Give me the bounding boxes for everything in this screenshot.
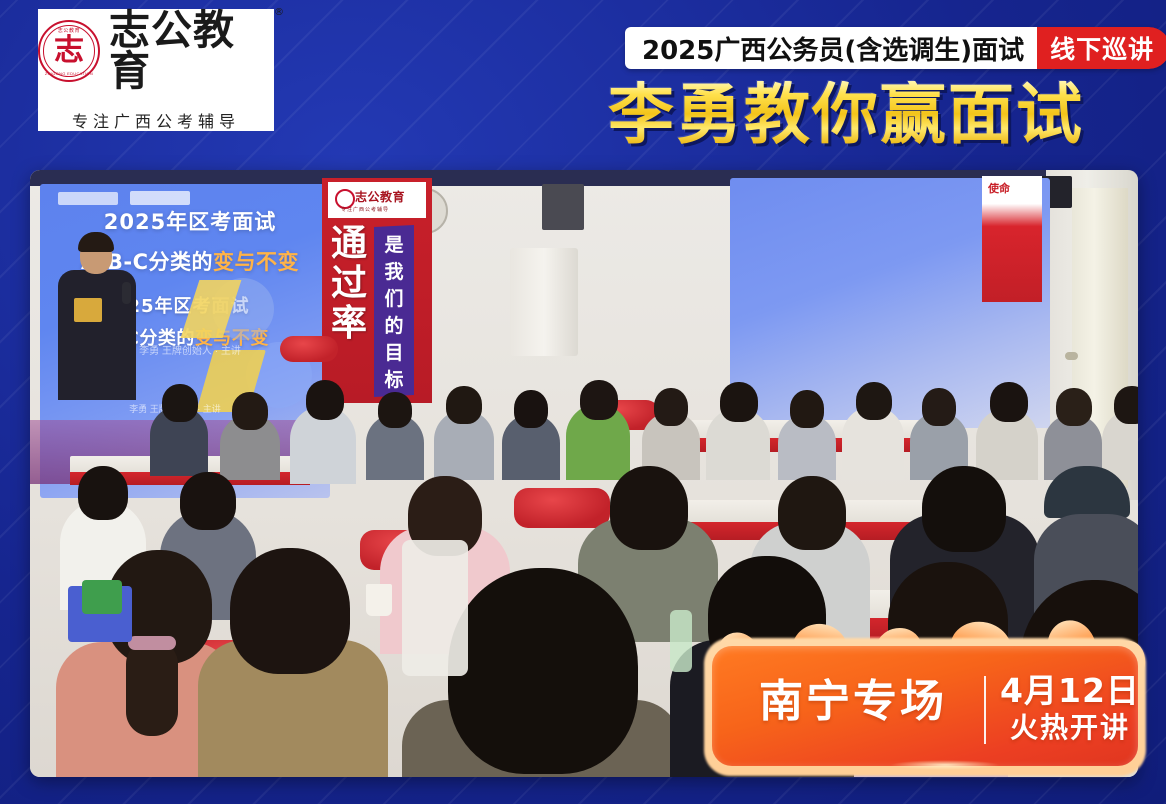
screen-right-line2-highlight: 变与不变: [213, 250, 299, 274]
audience-hair-tie: [128, 636, 176, 650]
screen-right-line1: 2025年区考面试: [30, 206, 350, 236]
t-shirt-print-accent: [82, 580, 122, 614]
brand-name: 志公教育 ®: [109, 10, 274, 92]
audience-person: [922, 466, 1006, 552]
chair: [514, 488, 610, 528]
flame-shine: [890, 760, 1000, 770]
event-title: 2025广西公务员(含选调生)面试: [642, 30, 1024, 67]
registered-mark: ®: [274, 8, 285, 18]
rollup-brand-name: 志公教育: [355, 188, 405, 205]
audience-person: [232, 392, 268, 430]
audience-person: [1114, 386, 1138, 424]
screen-left-logo-a: [58, 192, 118, 205]
chair: [280, 336, 338, 362]
audience-person: [180, 472, 236, 530]
audience-person: [378, 392, 412, 428]
brand-slogan: 专注广西公考辅导: [72, 108, 240, 132]
photo-air-conditioner: [510, 248, 578, 356]
title-pill: 2025广西公务员(含选调生)面试 线下巡讲: [625, 27, 1166, 69]
audience-person: [162, 384, 198, 422]
event-tag: 线下巡讲: [1050, 30, 1154, 66]
audience-person: [720, 382, 758, 422]
audience-person: [856, 382, 892, 420]
audience-person: [778, 476, 846, 550]
water-bottle: [670, 610, 692, 672]
rollup-purple-text: 是我们的目标: [379, 232, 409, 394]
presenter-shirt-logo: [74, 298, 102, 322]
audience-person-front: [448, 568, 638, 774]
audience-person: [610, 466, 688, 550]
audience-person: [514, 390, 548, 428]
rollup-brand-sub: 专注广西公考辅导: [341, 206, 389, 213]
flame-date-label: 4月12日: [1000, 674, 1140, 707]
audience-person: [922, 388, 956, 426]
audience-ponytail: [126, 640, 178, 736]
flame-date-sub-label: 火热开讲: [1000, 714, 1140, 742]
poster-root: 志公教育 志 ZHIGONG EDUCATION 志公教育 ® 专注广西公考辅导…: [0, 0, 1166, 804]
audience-person-front: [230, 548, 350, 674]
flame-separator: [984, 676, 986, 744]
brand-logo-row: 志公教育 志 ZHIGONG EDUCATION 志公教育 ®: [38, 10, 274, 92]
brand-logo: 志公教育 志 ZHIGONG EDUCATION 志公教育 ® 专注广西公考辅导: [38, 9, 274, 131]
flame-badge: 南宁专场 4月12日 火热开讲: [700, 628, 1150, 780]
audience-person: [790, 390, 824, 428]
seal-ring-bottom-text: ZHIGONG EDUCATION: [40, 71, 98, 76]
plastic-bag: [402, 540, 468, 676]
audience-person: [78, 466, 128, 520]
seal-char: 志: [54, 36, 84, 66]
title-pill-tag: 线下巡讲: [1037, 27, 1166, 69]
rollup-big-text: 通过率: [326, 224, 372, 344]
wall-poster-text: 使命: [988, 180, 1010, 196]
audience-person: [990, 382, 1028, 422]
headline-text: 李勇教你赢面试: [608, 81, 1084, 147]
audience-person: [580, 380, 618, 420]
photo-speaker: [542, 184, 584, 230]
photo-door-knob: [1065, 352, 1078, 360]
audience-person: [654, 388, 688, 426]
paper-cup: [366, 584, 392, 616]
brand-name-text: 志公教育: [109, 6, 235, 95]
audience-person: [1056, 388, 1092, 426]
presenter-microphone-icon: [122, 282, 131, 304]
audience-person: [446, 386, 482, 424]
seal-icon: 志公教育 志 ZHIGONG EDUCATION: [38, 20, 100, 82]
audience-person: [306, 380, 344, 420]
title-pill-main: 2025广西公务员(含选调生)面试: [625, 27, 1037, 69]
headline: 李勇教你赢面试: [608, 78, 1148, 150]
flame-city-label: 南宁专场: [728, 680, 978, 724]
screen-left-logo-b: [130, 191, 190, 205]
